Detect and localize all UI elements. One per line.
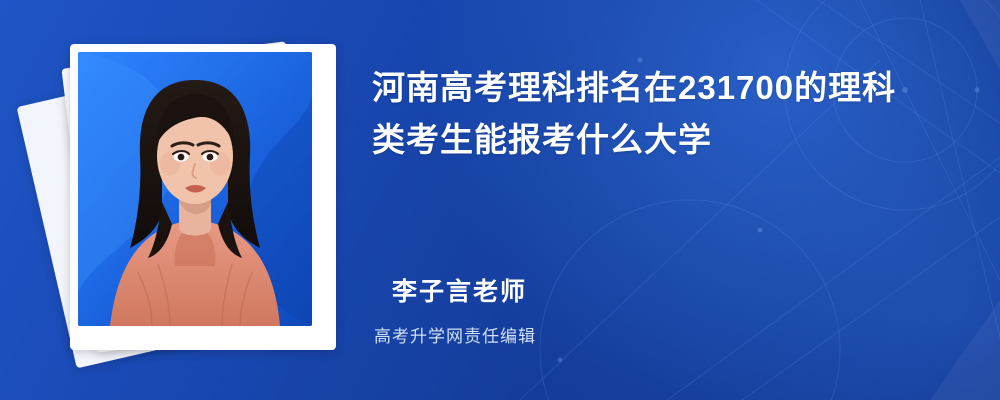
article-title-line-2: 类考生能报考什么大学 (372, 114, 962, 166)
author-role: 高考升学网责任编辑 (374, 322, 536, 347)
photo-card-front (70, 44, 336, 350)
photo-card-stack (44, 22, 344, 372)
author-byline: 李子言老师 高考升学网责任编辑 (392, 272, 536, 347)
article-title-line-1: 河南高考理科排名在231700的理科 (372, 62, 962, 114)
article-title-block: 河南高考理科排名在231700的理科 类考生能报考什么大学 (372, 62, 962, 166)
article-header-banner: 河南高考理科排名在231700的理科 类考生能报考什么大学 李子言老师 高考升学… (0, 0, 1000, 400)
author-name: 李子言老师 (392, 272, 536, 308)
author-photo (78, 52, 312, 326)
